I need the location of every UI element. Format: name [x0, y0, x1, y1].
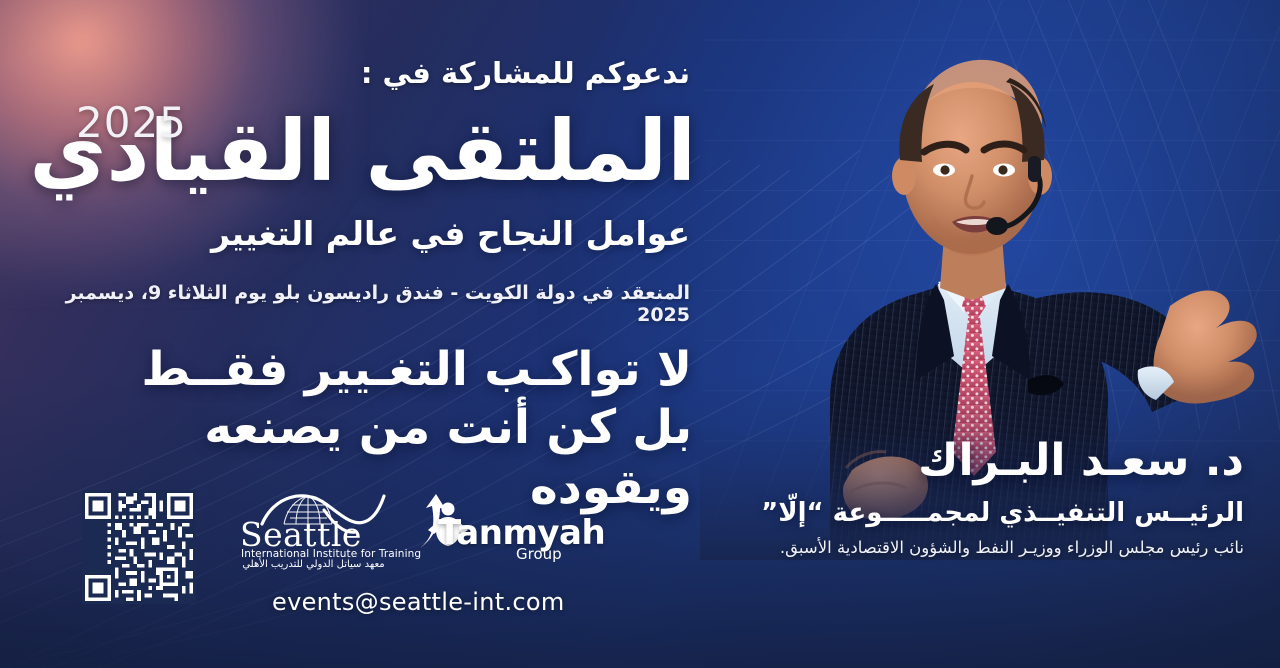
event-subtitle: عوامل النجاح في عالم التغيير: [30, 214, 690, 253]
title-group: 2025 الملتقى القيادي: [16, 96, 696, 192]
invitation-line: ندعوكم للمشاركة في :: [30, 56, 690, 90]
tanmyah-subtext: Group: [516, 545, 562, 563]
qr-code-icon[interactable]: [82, 490, 196, 604]
seattle-logo[interactable]: Seattle International Institute for Trai…: [236, 488, 386, 570]
slogan-line-1: لا تواكـب التغـيير فقــط: [32, 340, 692, 400]
speaker-role: الرئيــس التنفيــذي لمجمـــــوعة “إلّا”: [724, 498, 1244, 528]
seattle-tagline-ar: معهد سياتل الدولي للتدريب الأهلي: [241, 559, 386, 570]
event-banner: ندعوكم للمشاركة في : 2025 الملتقى القياد…: [0, 0, 1280, 668]
speaker-info: د. سعـد البـراك الرئيــس التنفيــذي لمجم…: [724, 438, 1244, 557]
speaker-previous-role: نائب رئيس مجلس الوزراء ووزيـر النفط والش…: [724, 538, 1244, 557]
event-year: 2025: [76, 98, 187, 147]
venue-date-line: المنعقد في دولة الكويت - فندق راديسون بل…: [30, 282, 690, 326]
contact-email[interactable]: events@seattle-int.com: [272, 588, 565, 616]
tanmyah-logo[interactable]: Tanmyah Group: [410, 488, 558, 570]
seattle-wordmark: Seattle: [240, 518, 362, 551]
partner-logos: Seattle International Institute for Trai…: [236, 488, 558, 570]
speaker-name: د. سعـد البـراك: [724, 438, 1244, 484]
